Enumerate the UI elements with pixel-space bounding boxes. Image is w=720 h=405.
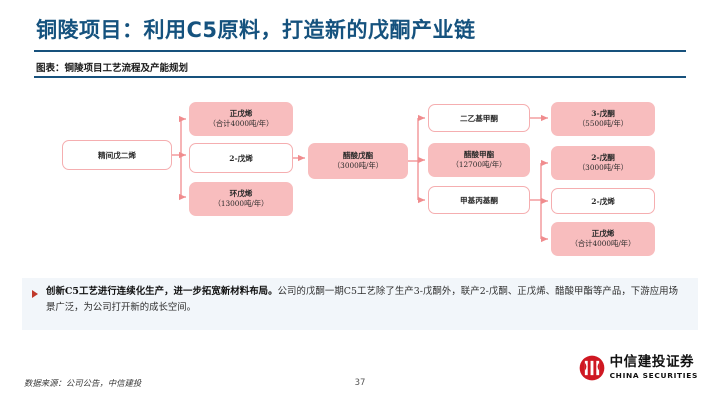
flow-node-n-zhengwuxi-r: 正戊烯（合计4000吨/年）: [551, 222, 655, 256]
flow-node-label: 精间戊二烯: [98, 150, 136, 161]
flow-node-label: 2-戊酮: [591, 152, 615, 163]
flow-node-n-zhengwuxi: 正戊烯（合计4000吨/年）: [189, 102, 293, 136]
flow-node-n-jingjian: 精间戊二烯: [62, 140, 172, 170]
flow-node-capacity: （3000吨/年）: [333, 161, 383, 172]
slide-root: 铜陵项目：利用C5原料，打造新的戊酮产业链 图表：铜陵项目工艺流程及产能规划: [0, 0, 720, 405]
flow-node-label: 正戊烯: [230, 108, 253, 119]
bullet-arrow-icon: [32, 290, 38, 298]
flow-node-label: 二乙基甲酮: [460, 113, 498, 124]
page-title: 铜陵项目：利用C5原料，打造新的戊酮产业链: [36, 14, 476, 44]
brand-wordmark: 中信建投证券 CHINA SECURITIES: [610, 356, 698, 379]
flow-node-label: 2-戊烯: [591, 196, 615, 207]
brand-logo: 中信建投证券 CHINA SECURITIES: [579, 355, 698, 381]
process-flow-diagram: 精间戊二烯正戊烯（合计4000吨/年）2-戊烯环戊烯（13000吨/年）醋酸戊酯…: [0, 86, 720, 266]
flow-node-capacity: （13000吨/年）: [214, 199, 269, 210]
flow-node-n-cusuanjia: 醋酸甲酯（12700吨/年）: [428, 143, 530, 177]
flow-node-capacity: （合计4000吨/年）: [209, 119, 274, 130]
flow-node-n-2wuxi: 2-戊烯: [189, 143, 293, 173]
title-divider: [34, 50, 686, 52]
caption-divider: [34, 76, 686, 78]
flow-node-capacity: （12700吨/年）: [452, 160, 507, 171]
flow-node-n-eryijijia: 二乙基甲酮: [428, 104, 530, 132]
flow-node-label: 醋酸甲酯: [464, 149, 494, 160]
flow-node-label: 环戊烯: [230, 188, 253, 199]
flow-node-label: 2-戊烯: [229, 153, 253, 164]
flow-node-n-jiajibingji: 甲基丙基酮: [428, 186, 530, 214]
brand-name-en: CHINA SECURITIES: [610, 372, 698, 379]
flow-node-label: 醋酸戊酯: [343, 150, 373, 161]
china-securities-emblem-icon: [579, 355, 605, 381]
brand-name-cn: 中信建投证券: [610, 356, 698, 370]
flow-node-label: 正戊烯: [592, 228, 615, 239]
figure-caption: 图表：铜陵项目工艺流程及产能规划: [36, 60, 188, 74]
flow-node-capacity: （3000吨/年）: [578, 163, 628, 174]
flow-node-n-huanwuxi: 环戊烯（13000吨/年）: [189, 182, 293, 216]
flow-node-n-2wutong: 2-戊酮（3000吨/年）: [551, 146, 655, 180]
highlight-lead: 创新C5工艺进行连续化生产，进一步拓宽新材料布局。: [46, 286, 278, 297]
flow-node-label: 甲基丙基酮: [460, 195, 498, 206]
flow-node-n-2wuxi-r: 2-戊烯: [551, 188, 655, 214]
flow-node-label: 3-戊酮: [591, 108, 615, 119]
flow-node-n-cusuanwuzhi: 醋酸戊酯（3000吨/年）: [308, 143, 408, 179]
flow-node-capacity: （5500吨/年）: [578, 119, 628, 130]
flow-node-n-3wutong: 3-戊酮（5500吨/年）: [551, 102, 655, 136]
highlight-text: 创新C5工艺进行连续化生产，进一步拓宽新材料布局。公司的戊酮一期C5工艺除了生产…: [46, 284, 678, 317]
flow-node-capacity: （合计4000吨/年）: [571, 239, 636, 250]
